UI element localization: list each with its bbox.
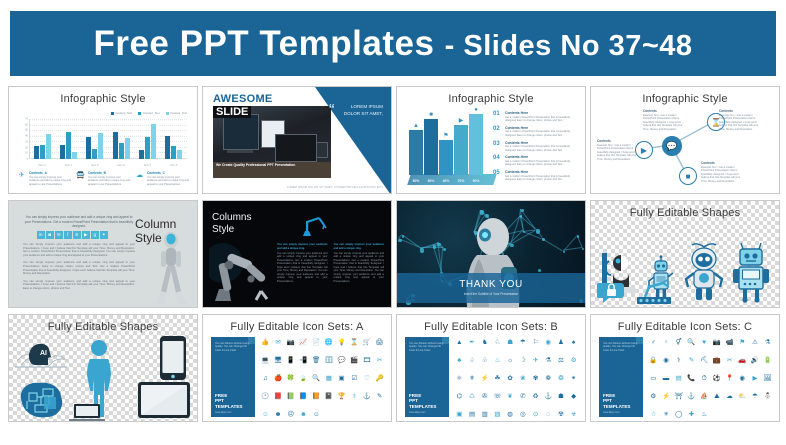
bar xyxy=(40,145,45,159)
node-caption: ContentsExample Text : Get a modern Powe… xyxy=(701,161,745,183)
icon-cell[interactable]: 🚗 xyxy=(738,357,746,364)
node-caption-heading: Contents xyxy=(719,109,763,113)
icon-cell[interactable]: ♤ xyxy=(469,357,475,364)
icon-set-grid-a: 👍✉📷📈📄🌐💡⌛🛒🖨💻🖥📱📲🗑🗄💬🎬🎞✂♫🍎🍀🍃🔍▦▣☑♡🔑🕐📕📗📘📙📓🏆⚕⚓✎… xyxy=(259,339,386,418)
icon-cell[interactable]: 💻 xyxy=(261,357,269,364)
slide-3-content-list: 01Contents HereGet a modern PowerPoint P… xyxy=(493,111,579,185)
bar xyxy=(165,136,170,159)
footer-item-title: Contents_C xyxy=(147,171,189,175)
y-tick: 60 xyxy=(25,123,28,126)
airplane-icon: ✈ xyxy=(17,171,26,180)
list-item: 02Contents HereGet a modern PowerPoint P… xyxy=(493,126,579,137)
bar-group xyxy=(139,119,156,159)
icon-cell[interactable]: ♀ xyxy=(664,339,669,346)
icon-cell[interactable]: ❁ xyxy=(546,375,551,382)
slide-10-brand-panel: You can Resize without losing quality. Y… xyxy=(211,337,255,417)
icon-cell[interactable]: ♂ xyxy=(651,339,656,346)
slide-9-title: Fully Editable Shapes xyxy=(9,321,197,333)
slide-thumbnail-9[interactable]: Fully Editable Shapes AI xyxy=(8,314,198,422)
column-value-label: 80% xyxy=(424,179,438,183)
icon-cell[interactable]: ▦ xyxy=(326,375,332,382)
y-tick: 40 xyxy=(25,135,28,138)
icon-cell[interactable]: ✈ xyxy=(533,357,538,364)
icon-cell[interactable]: ⚠ xyxy=(752,339,758,346)
slide-2-caption-text: We Create Quality Professional PPT Prese… xyxy=(216,163,295,167)
legend-item: Content_Text xyxy=(111,111,132,115)
icon-cell[interactable]: 🔊 xyxy=(751,357,759,364)
column-value-label: 60% xyxy=(409,179,423,183)
slide-7-title: THANK YOU xyxy=(397,279,585,290)
icon-cell[interactable]: ☽ xyxy=(520,357,526,364)
icon-cell[interactable]: ✎ xyxy=(377,393,382,400)
node-caption: ContentsExample Text : Get a modern Powe… xyxy=(643,109,687,131)
column-heading: You can simply impress your audience and… xyxy=(277,243,328,250)
icon-cell[interactable]: ⚓ xyxy=(363,393,371,400)
icon-cell[interactable]: ◯ xyxy=(675,411,682,418)
panel-brand-line3: TEMPLATES xyxy=(603,404,630,409)
icon-cell[interactable]: ⚙ xyxy=(650,393,656,400)
icon-cell[interactable]: 📲 xyxy=(299,357,307,364)
column-body: You can simply impress your audience and… xyxy=(277,252,328,284)
icon-cell[interactable]: ♟ xyxy=(558,339,564,346)
network-dot xyxy=(443,248,446,251)
icon-cell[interactable]: ♞ xyxy=(482,339,488,346)
icon-cell[interactable]: 🕐 xyxy=(261,393,269,400)
icon-cell[interactable]: ⚓ xyxy=(687,393,695,400)
bar xyxy=(171,146,176,159)
bar-group xyxy=(113,119,130,159)
slide-8-title: Fully Editable Shapes xyxy=(591,207,779,219)
slide-3-title: Infographic Style xyxy=(397,93,585,105)
bar xyxy=(60,145,65,159)
icon-cell[interactable]: ⚽ xyxy=(713,375,721,382)
node-caption-body: Example Text : Get a modern PowerPoint P… xyxy=(701,166,745,183)
icon-cell[interactable]: ☻ xyxy=(275,411,282,418)
icon-cell[interactable]: 👍 xyxy=(261,339,269,346)
icon-cell[interactable]: ❀ xyxy=(520,375,525,382)
slide-thumbnail-6[interactable]: Columns Style You can simply impre xyxy=(202,200,392,308)
bar xyxy=(145,137,150,159)
list-item-number: 01 xyxy=(493,111,502,122)
icon-cell[interactable]: 📘 xyxy=(299,393,307,400)
bar xyxy=(66,132,71,159)
icon-cell[interactable]: ⚜ xyxy=(469,375,475,382)
slide-thumbnail-3[interactable]: Infographic Style 60%▲80%■40%⚑70%▶90%● 0… xyxy=(396,86,586,194)
icon-cell[interactable]: ♻ xyxy=(533,393,539,400)
y-tick: 20 xyxy=(25,146,28,149)
icon-cell[interactable]: ❂ xyxy=(558,375,563,382)
column-bar xyxy=(469,114,483,175)
bar xyxy=(139,150,144,159)
instagram-icon[interactable]: ◙ xyxy=(46,231,54,239)
list-item-number: 03 xyxy=(493,141,502,152)
list-item-number: 02 xyxy=(493,126,502,137)
icon-cell[interactable]: ☁ xyxy=(726,393,733,400)
icon-cell[interactable]: ☘ xyxy=(495,375,501,382)
icon-cell[interactable]: ☑ xyxy=(351,375,357,382)
icon-cell[interactable]: 🗄 xyxy=(325,357,333,364)
chart-bars xyxy=(29,119,187,159)
icon-set-grid-b: ▲✒♞♘☗☂⚐◉♟♠♣♤♧♨☼☽✈⚗⚖⚙⚛⚜⚡☘✿❀✾❁❂✴⌬♺✇☏❦✆♻⚓☗◆… xyxy=(453,339,580,418)
node-caption-body: Example Text : Get a modern PowerPoint P… xyxy=(719,114,763,131)
icon-cell[interactable]: ⛅ xyxy=(738,393,746,400)
icon-cell[interactable]: ⛰ xyxy=(714,393,719,400)
column-bar xyxy=(439,140,453,175)
icon-cell[interactable]: ⚡ xyxy=(662,393,670,400)
twitter-icon[interactable]: ✦ xyxy=(100,231,108,239)
panel-brand-line3: TEMPLATES xyxy=(215,404,242,409)
slide-12-brand-panel: You can Resize without losing quality. Y… xyxy=(599,337,643,417)
icon-cell[interactable]: 🔑 xyxy=(376,375,384,382)
slide-2-footer: LOREM IPSUM DOLOR SIT AMET, CONSECTETUER… xyxy=(287,186,383,189)
icon-cell[interactable]: 🖥 xyxy=(274,357,282,364)
icon-cell[interactable]: ▲ xyxy=(456,339,462,346)
list-item-body: Get a modern PowerPoint Presentation tha… xyxy=(505,130,579,137)
icon-cell[interactable]: ▶ xyxy=(752,375,757,382)
icon-cell[interactable]: ⚡ xyxy=(481,375,489,382)
icon-cell[interactable]: ☻ xyxy=(300,411,307,418)
icon-cell[interactable]: 🍀 xyxy=(287,375,295,382)
slide-6-columns: You can simply impress your audience and… xyxy=(277,243,384,283)
column-bar xyxy=(454,125,468,175)
icon-cell[interactable]: ✂ xyxy=(377,357,382,364)
icon-cell[interactable]: 📍 xyxy=(725,375,733,382)
icon-cell[interactable]: ☺ xyxy=(313,411,320,418)
network-dot xyxy=(582,248,584,250)
slide-thumbnail-10[interactable]: Fully Editable Icon Sets: A You can Resi… xyxy=(202,314,392,422)
icon-cell[interactable]: 📓 xyxy=(325,393,333,400)
network-dot xyxy=(538,269,541,272)
slide-2-title-line1: AWESOME xyxy=(213,93,273,105)
icon-cell[interactable]: 🏆 xyxy=(337,393,345,400)
icon-cell[interactable]: 📞 xyxy=(687,375,695,382)
list-item-body: Get a modern PowerPoint Presentation tha… xyxy=(505,160,579,167)
legend-swatch xyxy=(138,112,141,115)
robot-arm-icon xyxy=(633,279,677,305)
bar xyxy=(113,132,118,159)
icon-cell[interactable]: ⚖ xyxy=(558,357,564,364)
icon-cell[interactable]: 🗑 xyxy=(312,357,320,364)
icon-cell[interactable]: ✉ xyxy=(275,339,280,346)
icon-cell[interactable]: ✆ xyxy=(520,393,525,400)
icon-cell[interactable]: ☂ xyxy=(520,339,526,346)
email-icon[interactable]: ✉ xyxy=(55,231,63,239)
icon-cell[interactable]: 📷 xyxy=(287,339,295,346)
icon-cell[interactable]: ♨ xyxy=(495,357,501,364)
svg-text:AI: AI xyxy=(40,350,47,357)
chat-icon[interactable]: 💬 xyxy=(662,136,682,156)
column-value-label: 70% xyxy=(454,179,468,183)
icon-set-grid-c: ♂♀⚥🔍♥📷📹⚑⚠⚗🔒◉⚕✎⛏💼✂🚗🔊🔋▭▬▤📞⏱⚽📍◉▶🖼⚙⚡⛩⚓⛵⛰☁⛅☂⛄… xyxy=(647,339,774,418)
icon-cell[interactable]: ⚗ xyxy=(545,357,551,364)
slide-thumbnail-4[interactable]: Infographic Style 💬⌛▶■ContentsExample Te… xyxy=(590,86,780,194)
y-tick: 50 xyxy=(25,129,28,132)
icon-cell[interactable]: ⊙ xyxy=(533,411,538,418)
icon-cell[interactable]: ⚕ xyxy=(677,357,681,364)
antenna-robot-icon xyxy=(682,241,726,303)
icon-cell[interactable]: 🌐 xyxy=(325,339,333,346)
slide-3-column-chart: 60%▲80%■40%⚑70%▶90%● xyxy=(409,113,491,185)
list-item-heading: Contents Here xyxy=(505,155,579,159)
icon-cell[interactable]: ☣ xyxy=(571,411,577,418)
icon-cell[interactable]: ♧ xyxy=(482,357,488,364)
icon-cell[interactable]: ▣ xyxy=(338,375,344,382)
icon-cell[interactable]: ✚ xyxy=(689,411,694,418)
list-item: 04Contents HereGet a modern PowerPoint P… xyxy=(493,155,579,166)
icon-cell[interactable]: 💬 xyxy=(337,357,345,364)
legend-label: Content_Text xyxy=(116,111,132,115)
column-value-label: 40% xyxy=(439,179,453,183)
icon-cell[interactable]: ♠ xyxy=(572,339,575,346)
icon-cell[interactable]: ✇ xyxy=(482,393,487,400)
icon-cell[interactable]: ⌛ xyxy=(350,339,358,346)
slide-2-quote: LOREM IPSUM DOLOR SIT AMET, xyxy=(341,104,383,117)
icon-cell[interactable]: 🎞 xyxy=(363,357,371,364)
icon-cell[interactable]: ⚗ xyxy=(765,339,771,346)
icon-cell[interactable]: ✒ xyxy=(469,339,474,346)
chart-x-axis: Item 1Item 2Item 3Item 4Item 5Item 6 xyxy=(29,164,187,167)
footer-item: ☁Contents_CYou can simply impress your a… xyxy=(135,171,189,186)
icon-cell[interactable]: 🔍 xyxy=(312,375,320,382)
icon-cell[interactable]: ♨ xyxy=(701,411,707,418)
text-column: You can simply impress your audience and… xyxy=(334,243,385,283)
icon-cell[interactable]: ◉ xyxy=(739,375,745,382)
icon-cell[interactable]: ⛄ xyxy=(764,393,772,400)
slide-thumbnail-1[interactable]: Infographic Style Content_TextContent_Te… xyxy=(8,86,198,194)
slide-6-title: Columns Style xyxy=(212,212,251,236)
icon-cell[interactable]: 💼 xyxy=(713,357,721,364)
lock-chat-icon xyxy=(597,279,627,305)
icon-cell[interactable]: ▨ xyxy=(494,411,500,418)
icon-cell[interactable]: ⚕ xyxy=(352,393,356,400)
icon-cell[interactable]: ⚐ xyxy=(533,339,539,346)
icon-cell[interactable]: 📕 xyxy=(274,393,282,400)
list-item: 01Contents HereGet a modern PowerPoint P… xyxy=(493,111,579,122)
icon-cell[interactable]: ⚥ xyxy=(676,339,682,346)
icon-cell[interactable]: 🖼 xyxy=(764,375,772,382)
x-tick: Item 4 xyxy=(118,164,125,167)
icon-cell[interactable]: ❦ xyxy=(507,393,512,400)
slide-11-brand-panel: You can Resize without losing quality. Y… xyxy=(405,337,449,417)
slide-thumbnail-12[interactable]: Fully Editable Icon Sets: C You can Resi… xyxy=(590,314,780,422)
flag-icon: ⚑ xyxy=(439,133,453,139)
icon-cell[interactable]: ▥ xyxy=(482,411,488,418)
icon-cell[interactable]: ♫ xyxy=(263,375,268,382)
icon-cell[interactable]: 💡 xyxy=(337,339,345,346)
panel-brand: FREE PPT TEMPLATES xyxy=(215,393,242,409)
icon-cell[interactable]: ⛵ xyxy=(700,393,708,400)
slide-4-hub-diagram: 💬⌛▶■ContentsExample Text : Get a modern … xyxy=(591,87,779,193)
icon-cell[interactable]: ⏱ xyxy=(702,375,707,382)
column-bar xyxy=(424,119,438,175)
slide-thumbnail-2[interactable]: AWESOME SLIDE We Create Quality Professi… xyxy=(202,86,392,194)
legend-item: Content_Text xyxy=(138,111,159,115)
slide-2-caption: We Create Quality Professional PPT Prese… xyxy=(216,163,295,168)
icon-cell[interactable]: 🍃 xyxy=(299,375,307,382)
panel-url: www.allppt.com xyxy=(409,411,426,414)
bar xyxy=(72,152,77,159)
bar xyxy=(125,138,130,159)
panel-lorem-text: You can Resize without losing quality. Y… xyxy=(603,342,639,352)
icon-cell[interactable]: 📱 xyxy=(287,357,295,364)
icon-cell[interactable]: ♺ xyxy=(469,393,475,400)
icon-cell[interactable]: ◎ xyxy=(520,411,526,418)
bar xyxy=(98,133,103,159)
icon-cell[interactable]: ◆ xyxy=(571,393,576,400)
icon-cell[interactable]: ⚓ xyxy=(544,393,552,400)
icon-cell[interactable]: ♘ xyxy=(495,339,501,346)
list-item-heading: Contents Here xyxy=(505,170,579,174)
slide-12-title: Fully Editable Icon Sets: C xyxy=(591,321,779,333)
ai-head-icon: AI xyxy=(15,337,67,371)
icon-cell[interactable]: ⚛ xyxy=(456,375,462,382)
icon-cell[interactable]: 🍎 xyxy=(274,375,282,382)
quote-mark-icon: “ xyxy=(329,104,336,113)
list-item-number: 05 xyxy=(493,170,502,181)
list-item: 05Contents HereGet a modern PowerPoint P… xyxy=(493,170,579,181)
node-caption-heading: Contents xyxy=(597,139,641,143)
slide-7-subtitle: Insert the Subtitle of Your Presentation xyxy=(397,292,585,296)
icon-cell[interactable]: 🖨 xyxy=(376,339,384,346)
icon-cell[interactable]: ☃ xyxy=(650,411,656,418)
icon-cell[interactable]: ☹ xyxy=(287,411,294,418)
banner-title-sub: - Slides No 37~48 xyxy=(445,30,693,62)
google-plus-icon[interactable]: g xyxy=(91,231,99,239)
icon-cell[interactable]: ⚑ xyxy=(739,339,745,346)
icon-cell[interactable]: ⚙ xyxy=(571,357,577,364)
panel-lorem-text: You can Resize without losing quality. Y… xyxy=(409,342,445,352)
slide-11-title: Fully Editable Icon Sets: B xyxy=(397,321,585,333)
icon-cell[interactable]: ☢ xyxy=(558,411,564,418)
list-item-body: Get a modern PowerPoint Presentation tha… xyxy=(505,175,579,182)
slide-1-footer-items: ✈Contents_AYou can simply impress your a… xyxy=(17,171,189,186)
icon-cell[interactable]: 📄 xyxy=(312,339,320,346)
icon-cell[interactable]: ▤ xyxy=(469,411,475,418)
stop-square-icon[interactable]: ■ xyxy=(679,167,697,185)
footer-item: ✈Contents_AYou can simply impress your a… xyxy=(17,171,71,186)
icon-cell[interactable]: 🔍 xyxy=(687,339,695,346)
slide-5-body-text: You can simply impress your audience and… xyxy=(23,243,135,295)
icon-cell[interactable]: ▬ xyxy=(663,375,670,382)
rss-icon[interactable]: ≋ xyxy=(73,231,81,239)
chart-y-axis: 010203040506070 xyxy=(19,119,29,159)
icon-cell[interactable]: 📗 xyxy=(287,393,295,400)
robot-figure-image xyxy=(151,231,191,305)
x-tick: Item 5 xyxy=(144,164,151,167)
icon-cell[interactable]: ♥ xyxy=(702,339,706,346)
facebook-icon[interactable]: f xyxy=(64,231,72,239)
icon-cell[interactable]: ☗ xyxy=(558,393,564,400)
icon-cell[interactable]: ✾ xyxy=(533,375,538,382)
icon-cell[interactable]: 🛒 xyxy=(363,339,371,346)
cart-icon: ■ xyxy=(424,112,438,118)
icon-cell[interactable]: ✿ xyxy=(507,375,512,382)
slide-thumbnail-7[interactable]: THANK YOU Insert the Subtitle of Your Pr… xyxy=(396,200,586,308)
icon-cell[interactable]: ▤ xyxy=(676,375,682,382)
slide-10-title: Fully Editable Icon Sets: A xyxy=(203,321,391,333)
slide-8-bottom-shapes xyxy=(597,279,677,305)
bar-group xyxy=(60,119,77,159)
icon-cell[interactable]: ◍ xyxy=(507,411,513,418)
icon-cell[interactable]: ◉ xyxy=(545,339,551,346)
slide-thumbnail-8[interactable]: Fully Editable Shapes xyxy=(590,200,780,308)
icon-cell[interactable]: ☺ xyxy=(262,411,269,418)
x-tick: Item 1 xyxy=(39,164,46,167)
icon-cell[interactable]: ☏ xyxy=(493,393,501,400)
paragraph: You can simply impress your audience and… xyxy=(23,280,135,291)
legend-swatch xyxy=(111,112,114,115)
icon-cell[interactable]: 📷 xyxy=(713,339,721,346)
node-caption-heading: Contents xyxy=(701,161,745,165)
footer-item-body: You can simply impress your audience and… xyxy=(147,176,189,186)
icon-cell[interactable]: ◌ xyxy=(546,411,550,418)
icon-cell[interactable]: ✎ xyxy=(689,357,694,364)
bar xyxy=(86,137,91,159)
slide-1-bar-chart: Content_TextContent_TextContent_Text 010… xyxy=(19,111,189,167)
icon-cell[interactable]: ⛏ xyxy=(700,357,708,364)
bar xyxy=(151,124,156,159)
legend-label: Content_Text xyxy=(143,111,159,115)
node-caption: ContentsExample Text : Get a modern Powe… xyxy=(597,139,641,161)
icon-cell[interactable]: ⌬ xyxy=(457,393,463,400)
bar xyxy=(34,146,39,159)
panel-url: www.allppt.com xyxy=(603,411,620,414)
footer-item-body: You can simply impress your audience and… xyxy=(88,176,130,186)
bar xyxy=(119,143,124,159)
slide-thumbnail-11[interactable]: Fully Editable Icon Sets: B You can Resi… xyxy=(396,314,586,422)
panel-brand-line3: TEMPLATES xyxy=(409,404,436,409)
icon-cell[interactable]: ♡ xyxy=(364,375,370,382)
icon-cell[interactable]: ◉ xyxy=(663,357,669,364)
network-link xyxy=(542,238,563,251)
icon-cell[interactable]: ✂ xyxy=(727,357,732,364)
node-caption: ContentsExample Text : Get a modern Powe… xyxy=(719,109,763,131)
icon-cell[interactable]: 🎬 xyxy=(350,357,358,364)
icon-cell[interactable]: ▭ xyxy=(650,375,656,382)
icon-cell[interactable]: ☼ xyxy=(507,357,513,364)
robotic-arm-image xyxy=(209,241,273,307)
icon-cell[interactable]: 📈 xyxy=(299,339,307,346)
list-item-number: 04 xyxy=(493,155,502,166)
footer-item-title: Contents_B xyxy=(88,171,130,175)
x-tick: Item 6 xyxy=(170,164,177,167)
icon-cell[interactable]: ♣ xyxy=(457,357,461,364)
icon-cell[interactable]: ⛩ xyxy=(675,393,683,400)
circuit-brain-icon xyxy=(15,379,69,419)
legend-label: Content_Text xyxy=(171,111,187,115)
slide-thumbnail-5[interactable]: You can simply impress your audience and… xyxy=(8,200,198,308)
icon-cell[interactable]: 🔒 xyxy=(649,357,657,364)
paragraph: You can simply impress your audience and… xyxy=(23,243,135,257)
panel-lorem-text: You can Resize without losing quality. Y… xyxy=(215,342,251,352)
icon-cell[interactable]: ✳ xyxy=(663,411,668,418)
icon-cell[interactable]: ☂ xyxy=(752,393,758,400)
node-caption-heading: Contents xyxy=(643,109,687,113)
column-heading: You can simply impress your audience and… xyxy=(334,243,385,250)
icon-cell[interactable]: ✴ xyxy=(571,375,576,382)
icon-cell[interactable]: 📹 xyxy=(725,339,733,346)
icon-cell[interactable]: ☗ xyxy=(507,339,513,346)
icon-cell[interactable]: 📙 xyxy=(312,393,320,400)
node-caption-body: Example Text : Get a modern PowerPoint P… xyxy=(643,114,687,131)
icon-cell[interactable]: ▣ xyxy=(456,411,462,418)
linkedin-icon[interactable]: in xyxy=(37,231,45,239)
youtube-icon[interactable]: ▶ xyxy=(82,231,90,239)
x-tick: Item 3 xyxy=(91,164,98,167)
chart-legend: Content_TextContent_TextContent_Text xyxy=(111,111,187,115)
icon-cell[interactable]: 🔋 xyxy=(764,357,772,364)
y-tick: 10 xyxy=(25,152,28,155)
